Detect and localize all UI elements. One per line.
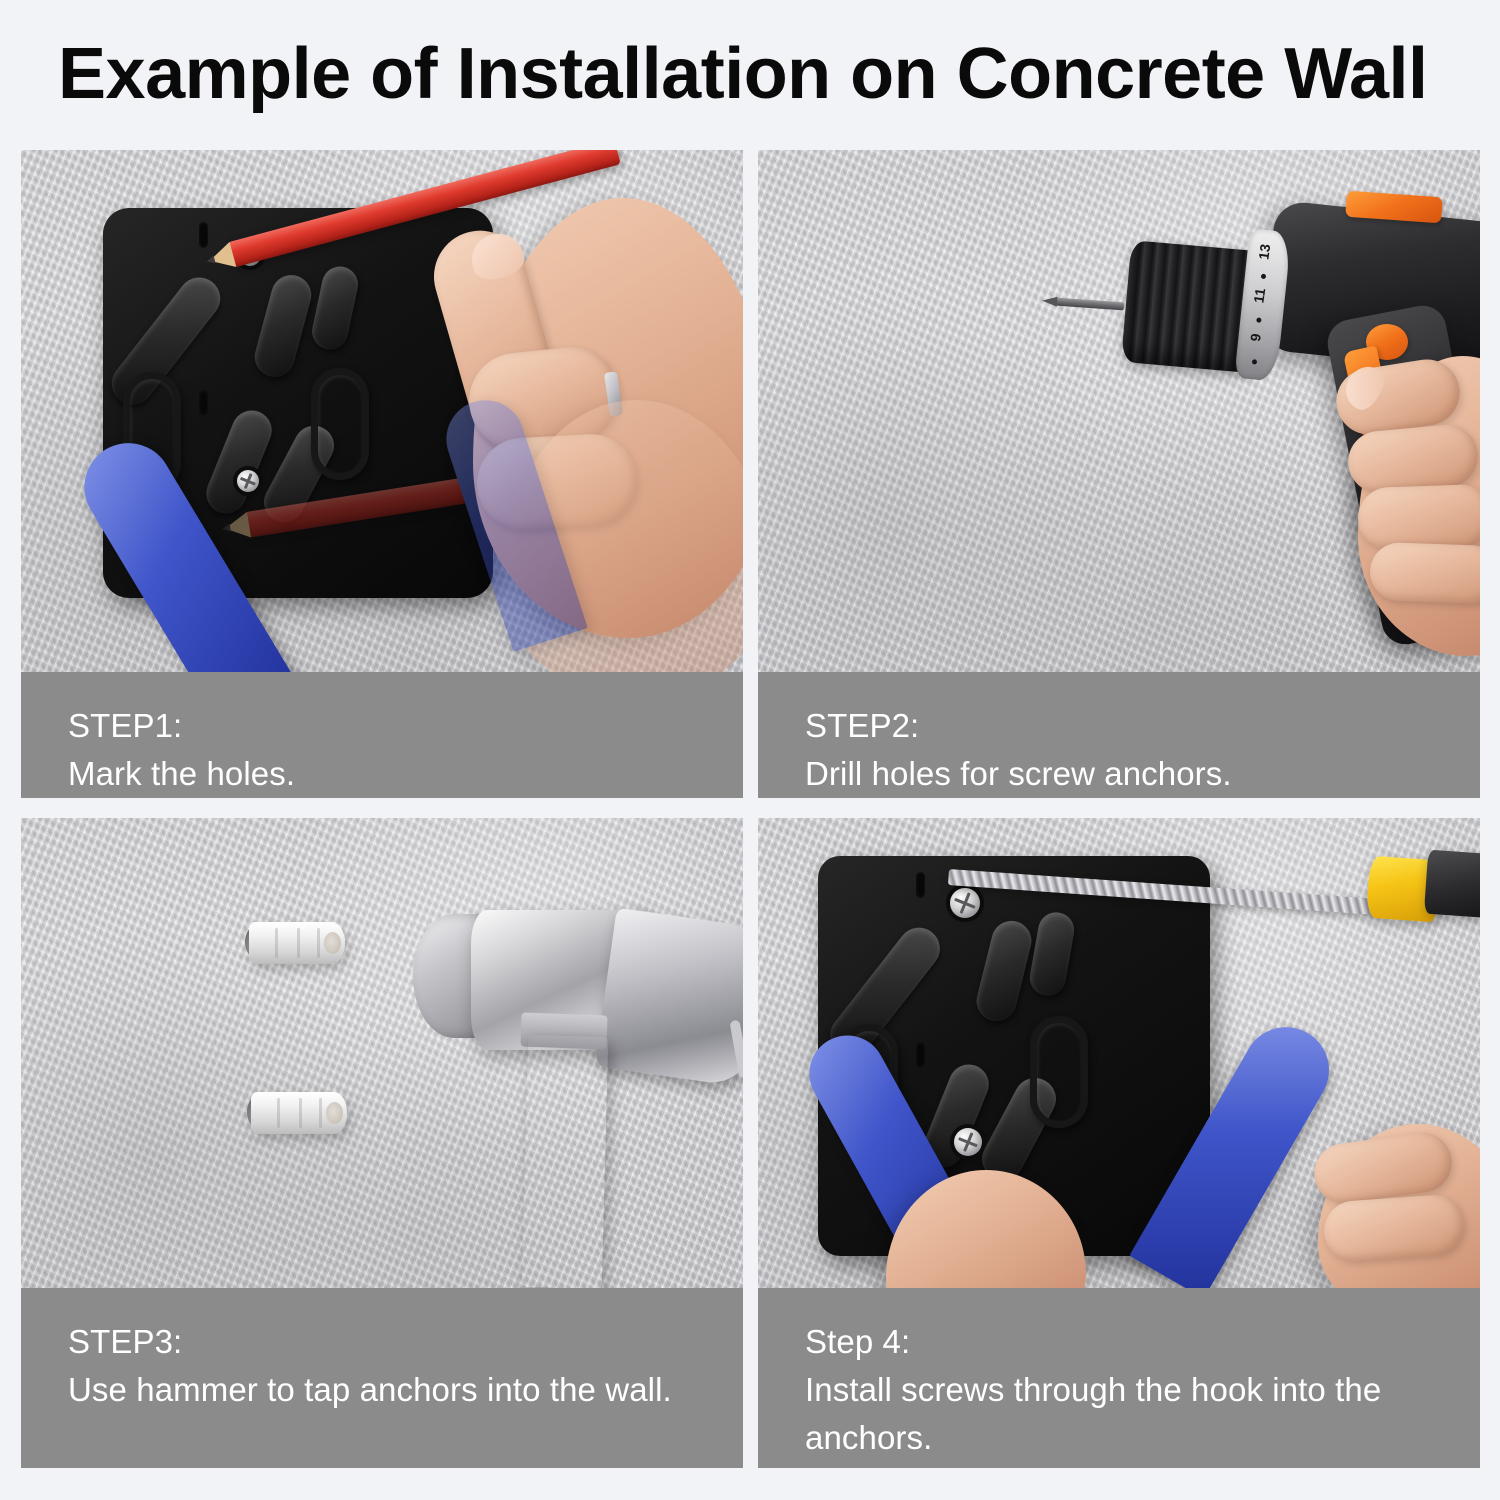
anchor-rib: [297, 928, 300, 958]
hammer-claw: [595, 908, 743, 1089]
step-1-description: Mark the holes.: [68, 750, 743, 798]
torque-dot: [1252, 359, 1257, 364]
hammer-wooden-handle: [522, 1035, 609, 1288]
installed-screw: [954, 1128, 982, 1156]
hook-emboss: [309, 263, 362, 353]
step-3-label: STEP3:: [68, 1318, 743, 1366]
step-card-4: Step 4: Install screws through the hook …: [758, 818, 1480, 1468]
anchor-rib: [299, 1098, 302, 1128]
hook-emboss: [972, 917, 1035, 1026]
plate-slot: [916, 872, 925, 898]
anchor-rib: [319, 1098, 322, 1128]
step-1-caption: STEP1: Mark the holes.: [21, 672, 743, 798]
torque-dot: [1261, 274, 1266, 279]
step-1-photo: [21, 150, 743, 672]
anchor-rib: [277, 1098, 280, 1128]
hook-loop: [311, 368, 369, 480]
finger: [1322, 1193, 1466, 1263]
step-1-label: STEP1:: [68, 702, 743, 750]
step-3-photo: [21, 818, 743, 1288]
step-3-description: Use hammer to tap anchors into the wall.: [68, 1366, 743, 1414]
finger: [1369, 542, 1480, 605]
step-2-photo: 13 11 9: [758, 150, 1480, 672]
step-4-description: Install screws through the hook into the…: [805, 1366, 1480, 1462]
page-title: Example of Installation on Concrete Wall: [58, 33, 1458, 115]
anchor-rib: [275, 928, 278, 958]
pencil-lead: [222, 524, 231, 533]
plate-slot: [199, 222, 208, 248]
step-4-photo: [758, 818, 1480, 1288]
step-4-caption: Step 4: Install screws through the hook …: [758, 1288, 1480, 1468]
hook-emboss: [1027, 910, 1077, 999]
torque-number-9: 9: [1247, 332, 1264, 342]
step-card-1: STEP1: Mark the holes.: [21, 150, 743, 798]
plate-slot: [916, 1042, 925, 1068]
installation-guide-page: Example of Installation on Concrete Wall: [0, 0, 1500, 1500]
step-card-2: 13 11 9 STEP2:: [758, 150, 1480, 798]
steps-grid: STEP1: Mark the holes. 13 11 9: [21, 150, 1480, 1468]
installed-screw: [950, 888, 980, 918]
torque-number-13: 13: [1255, 243, 1273, 261]
torque-number-11: 11: [1250, 287, 1268, 304]
step-2-label: STEP2:: [805, 702, 1480, 750]
step-2-caption: STEP2: Drill holes for screw anchors.: [758, 672, 1480, 798]
anchor-rib: [317, 928, 320, 958]
white-wall-anchor: [251, 1092, 347, 1134]
white-wall-anchor: [249, 922, 345, 964]
step-4-label: Step 4:: [805, 1318, 1480, 1366]
marked-hole: [237, 470, 259, 492]
step-3-caption: STEP3: Use hammer to tap anchors into th…: [21, 1288, 743, 1468]
finger: [1357, 484, 1480, 551]
step-card-3: STEP3: Use hammer to tap anchors into th…: [21, 818, 743, 1468]
screwdriver-black-handle: [1424, 850, 1480, 919]
torque-dot: [1256, 317, 1261, 322]
plate-slot: [199, 390, 208, 416]
hook-loop: [1030, 1016, 1088, 1128]
step-2-description: Drill holes for screw anchors.: [805, 750, 1480, 798]
hook-emboss: [250, 271, 316, 382]
